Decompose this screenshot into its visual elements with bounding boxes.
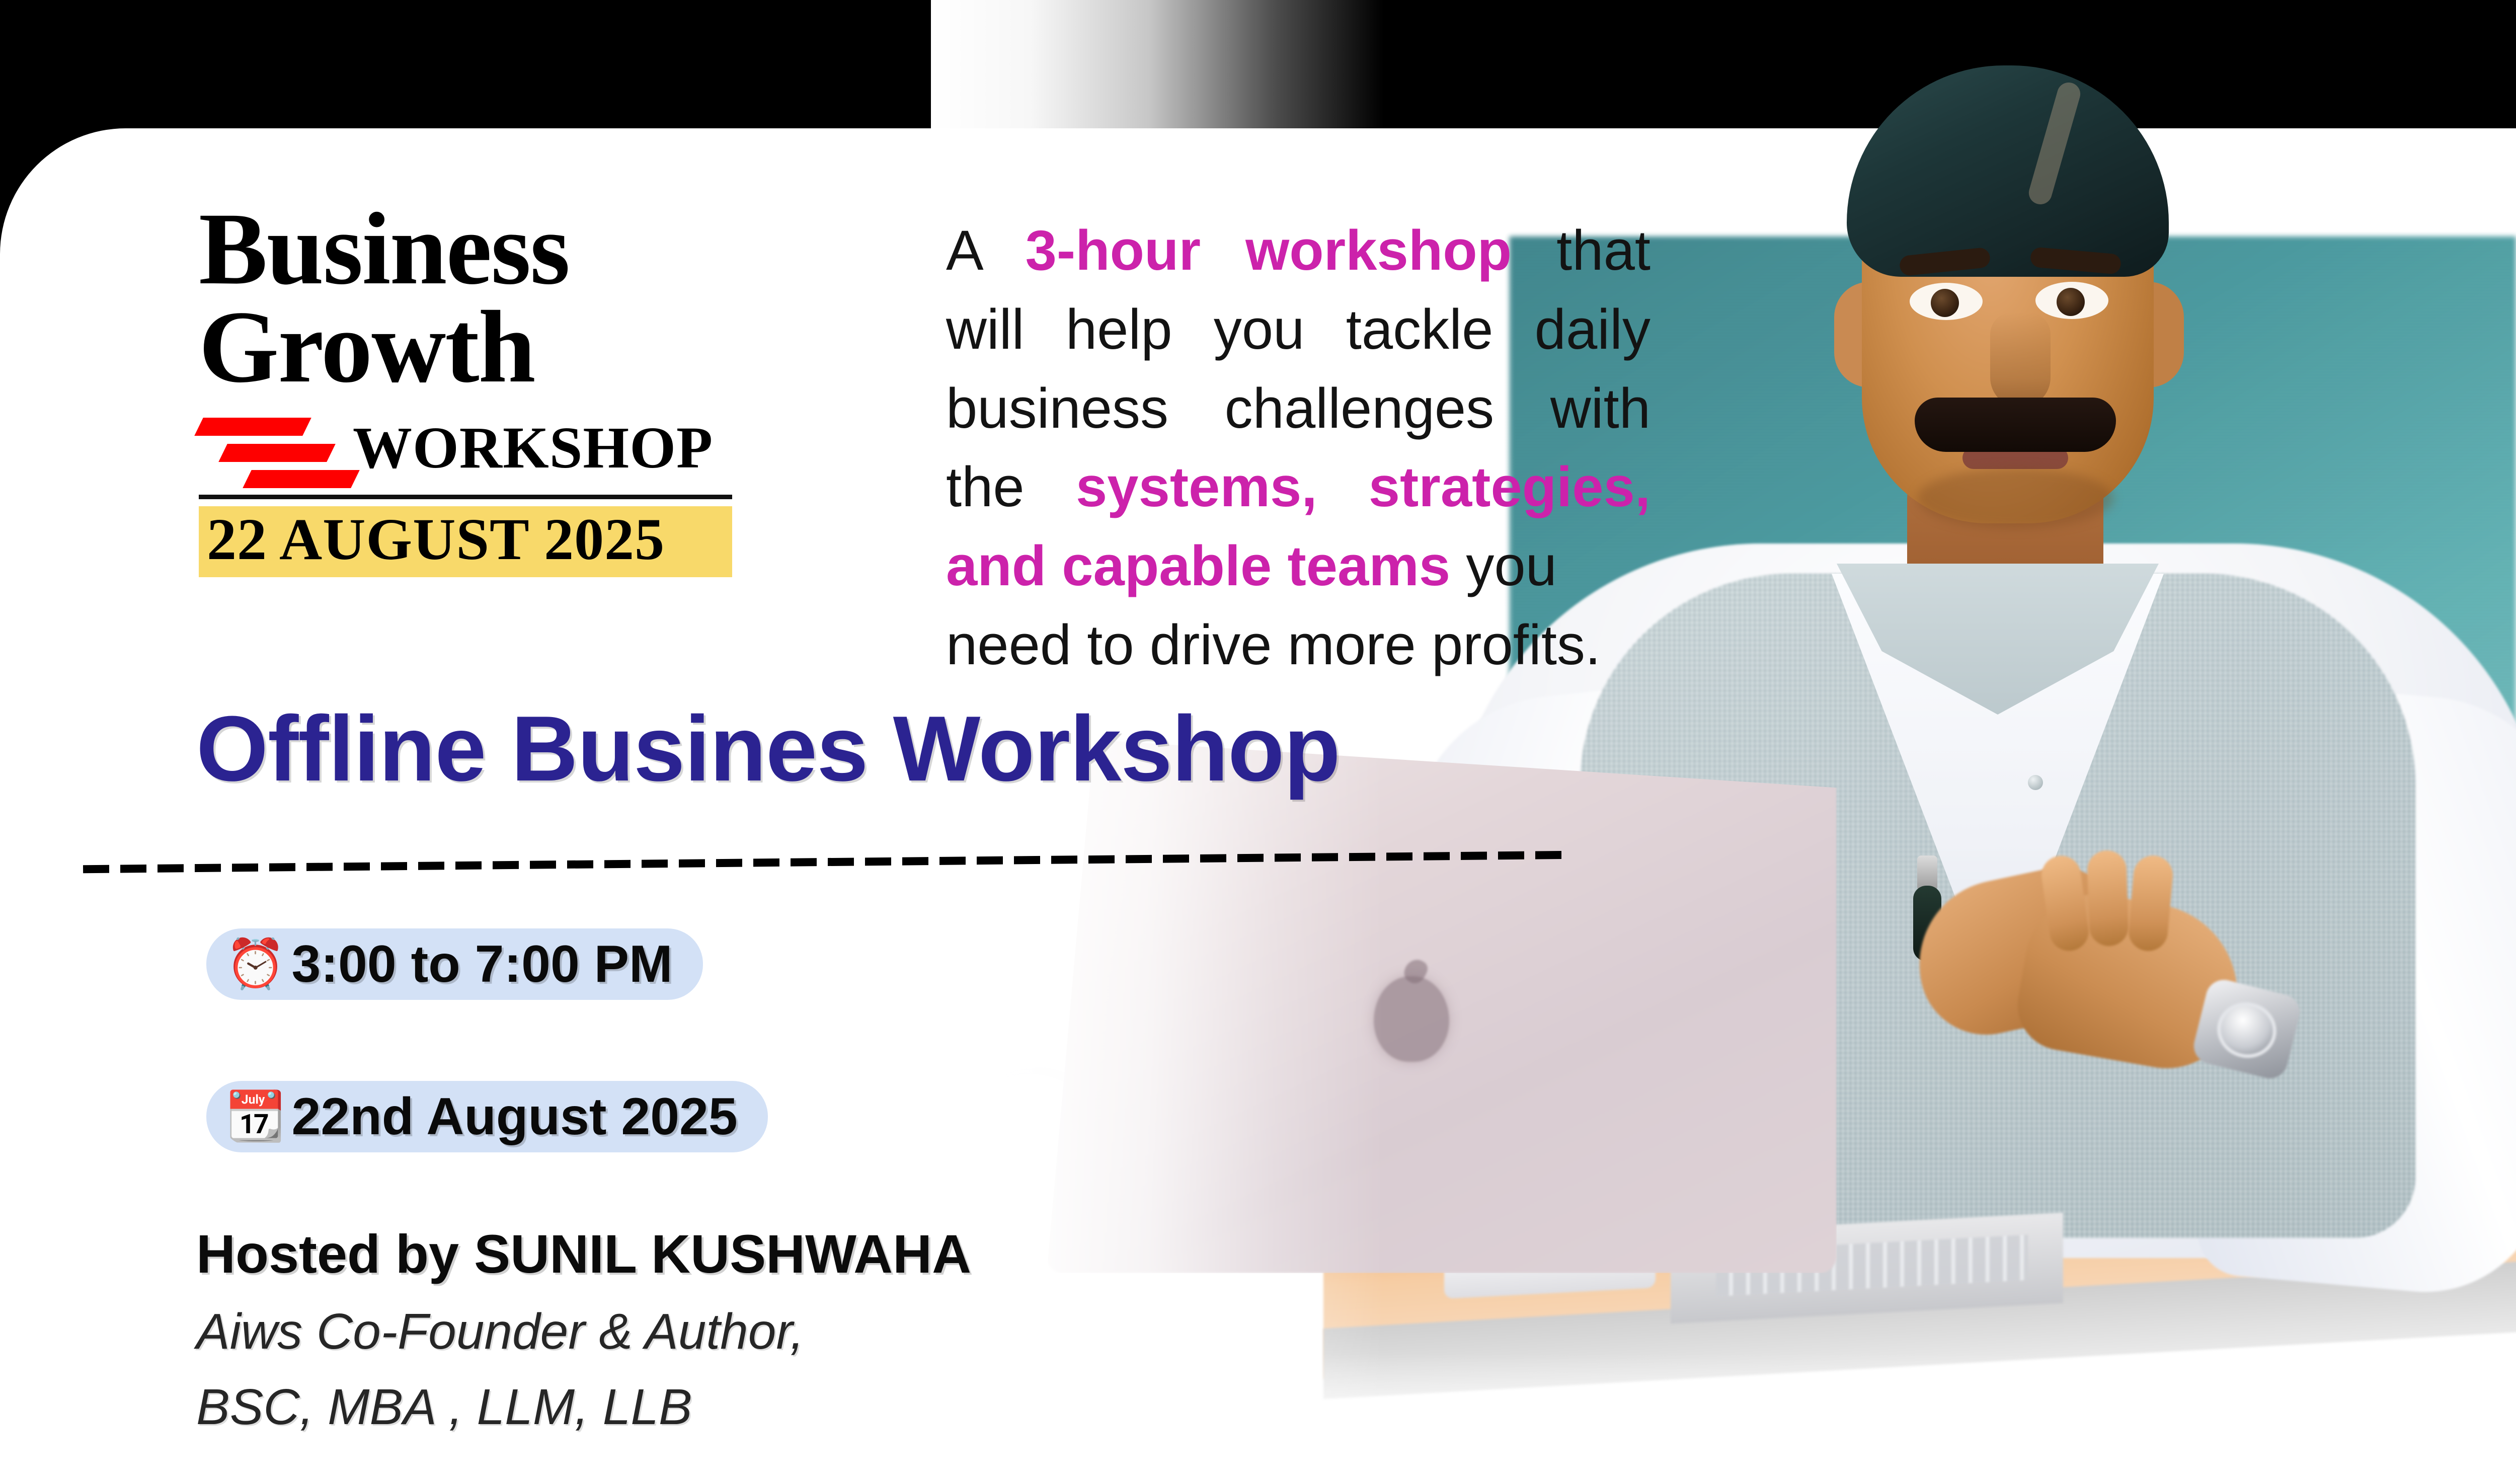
host-name: Hosted by SUNIL KUSHWAHA [196, 1223, 1303, 1285]
logo-workshop-row: WORKSHOP [199, 410, 793, 486]
red-stripes-icon [199, 413, 350, 483]
vest-button [2028, 775, 2043, 790]
info-pill-time[interactable]: ⏰ 3:00 to 7:00 PM [206, 928, 703, 1000]
alarm-clock-icon: ⏰ [225, 940, 286, 988]
host-block: Hosted by SUNIL KUSHWAHA Aiws Co-Founder… [196, 1223, 1303, 1443]
intro-seg4: need to drive more profits. [946, 606, 1650, 685]
logo-lockup: Business Growth WORKSHOP 22 AUGUST 2025 [199, 201, 793, 577]
intro-seg3: you [1450, 534, 1557, 597]
logo-date-band: 22 AUGUST 2025 [199, 506, 732, 577]
logo-line-business: Business [199, 201, 793, 297]
banner-stage: Business Growth WORKSHOP 22 AUGUST 2025 … [0, 0, 2516, 1484]
logo-workshop-word: WORKSHOP [353, 418, 713, 478]
info-pill-date[interactable]: 📆 22nd August 2025 [206, 1081, 768, 1152]
eye-right [2035, 282, 2108, 319]
host-credentials-line1: Aiws Co-Founder & Author, [196, 1296, 1303, 1367]
intro-highlight-1: 3-hour workshop [1026, 219, 1512, 282]
pill-date-label: 22nd August 2025 [292, 1090, 738, 1143]
chin-shadow [1917, 468, 2113, 528]
divider [83, 851, 1572, 873]
nose [1990, 312, 2051, 408]
logo-line-growth: Growth [199, 299, 793, 396]
hair [1847, 65, 2169, 277]
eye-left [1910, 283, 1983, 320]
host-credentials-line2: BSC, MBA , LLM, LLB [196, 1371, 1303, 1443]
page-title: Offline Busines Workshop [196, 702, 1605, 795]
intro-paragraph: A 3-hour workshop that will help you tac… [946, 211, 1650, 685]
calendar-icon: 📆 [225, 1092, 286, 1141]
intro-seg1: A [946, 219, 1026, 282]
logo-rule [199, 495, 732, 499]
pill-time-label: 3:00 to 7:00 PM [292, 938, 673, 990]
moustache [1915, 398, 2116, 452]
logo-date-text: 22 AUGUST 2025 [207, 509, 724, 570]
finger [2087, 850, 2130, 947]
content-layer: Business Growth WORKSHOP 22 AUGUST 2025 … [0, 0, 1711, 1484]
